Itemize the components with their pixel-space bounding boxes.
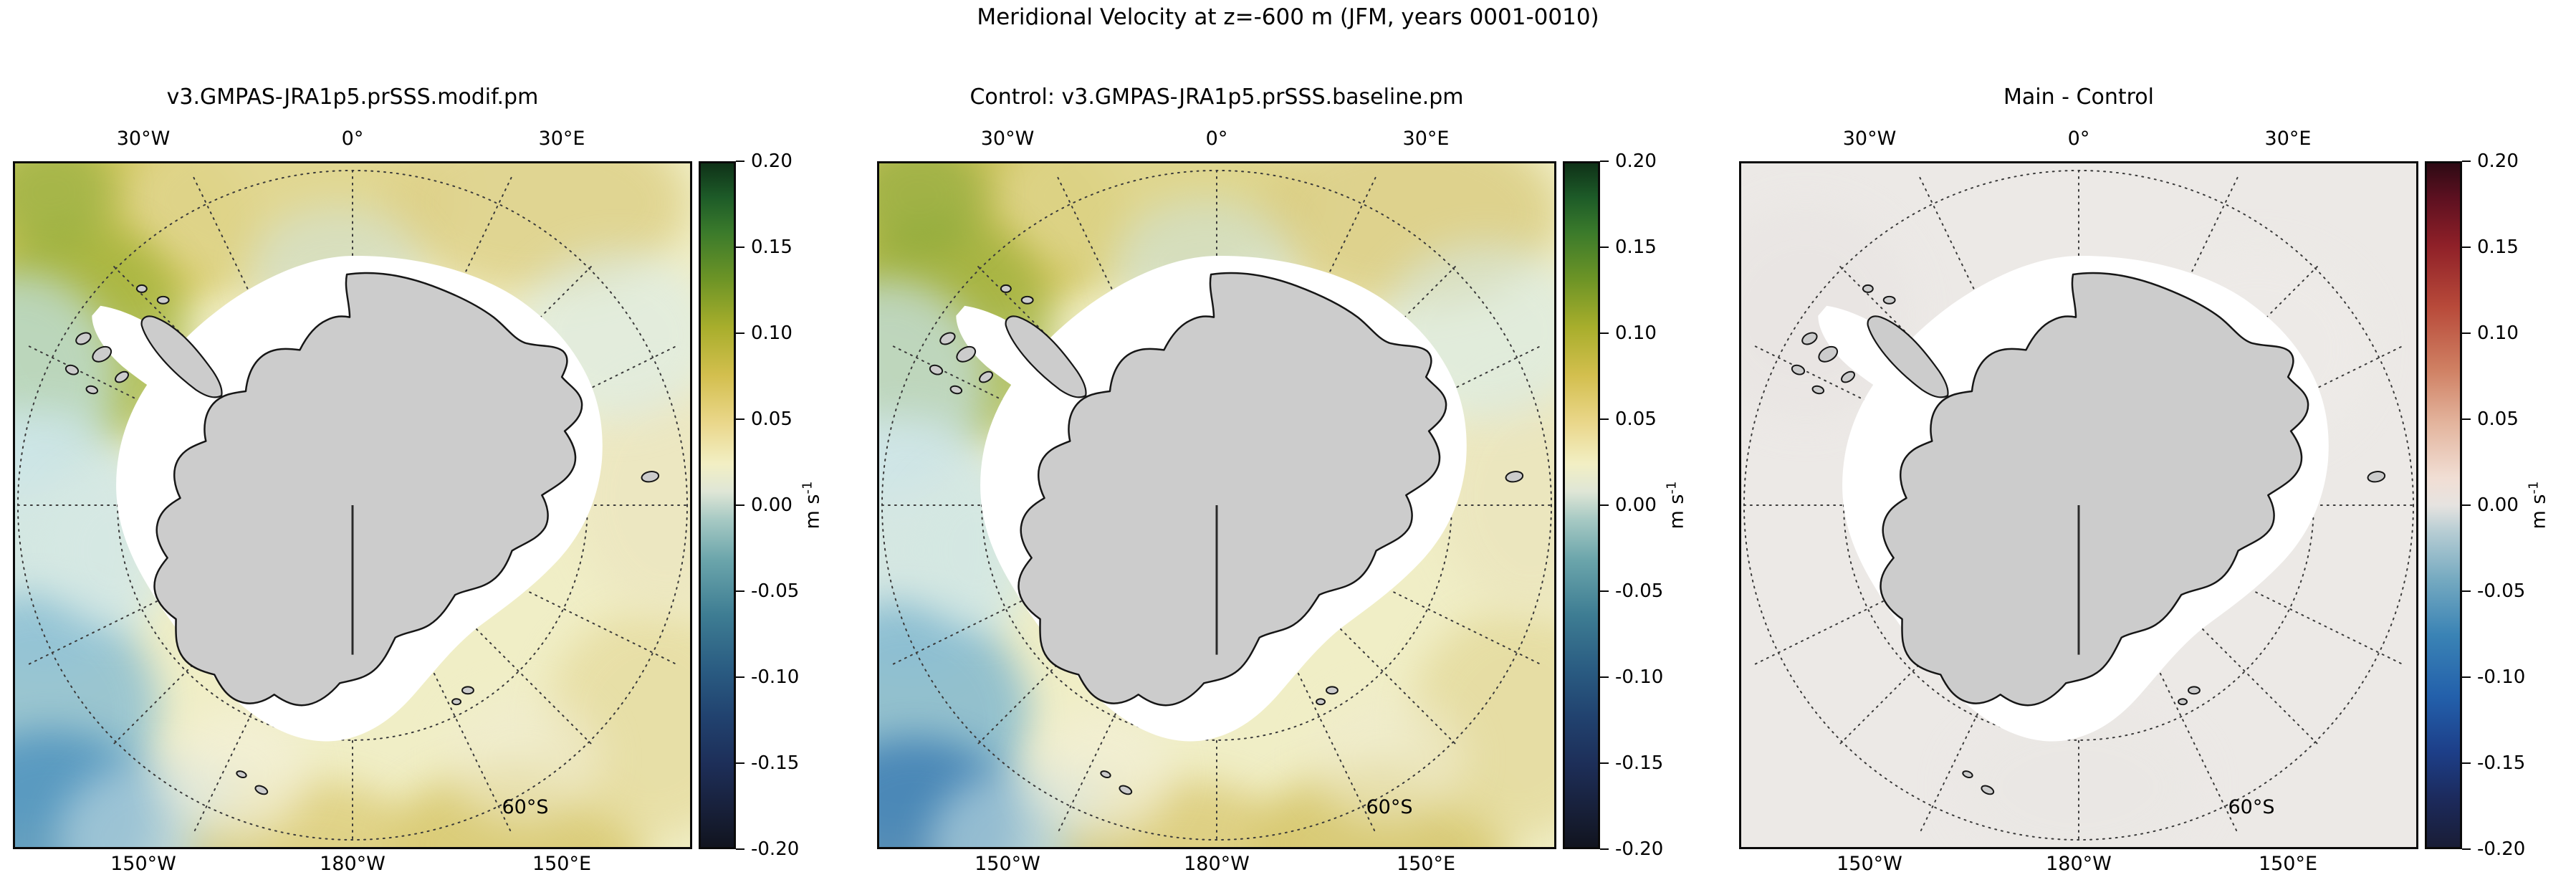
- cbar-tick-dash: [736, 332, 744, 334]
- lon-label-top-2: 30°E: [539, 128, 585, 150]
- cbar-tick-dash: [1600, 676, 1609, 678]
- cbar-tick-dash: [736, 762, 744, 764]
- lon-label-bottom-0: 150°W: [110, 853, 176, 876]
- colorbar-axis-label-difference: m s-1: [2524, 482, 2549, 530]
- cbar-tick-dash: [1600, 247, 1609, 248]
- cbar-tick-dash: [736, 676, 744, 678]
- cbar-tick-dash: [1600, 848, 1609, 850]
- cbar-tick-label: -0.15: [1615, 753, 1663, 773]
- antarctica-landmass-main: [15, 163, 690, 847]
- cbar-tick-label: 0.10: [1615, 323, 1657, 343]
- map-difference[interactable]: 60°S: [1739, 161, 2418, 849]
- panel-title-control: Control: v3.GMPAS-JRA1p5.prSSS.baseline.…: [877, 85, 1556, 110]
- cbar-tick-dash: [2462, 676, 2471, 678]
- panel-difference: Main - Control 30°W 0° 30°E: [1739, 0, 2418, 890]
- cbar-tick-dash: [2462, 332, 2471, 334]
- cbar-tick-label: 0.20: [2477, 151, 2519, 171]
- cbar-tick-dash: [2462, 418, 2471, 420]
- lon-label-top-0: 30°W: [981, 128, 1035, 150]
- cbar-tick-label: 0.15: [1615, 237, 1657, 257]
- cbar-tick-dash: [1600, 418, 1609, 420]
- panel-title-difference: Main - Control: [1739, 85, 2418, 110]
- cbar-tick-dash: [2462, 504, 2471, 506]
- cbar-tick-label: -0.20: [2477, 839, 2525, 859]
- antarctica-landmass-difference: [1741, 163, 2416, 847]
- cbar-unit-text: m s: [1666, 494, 1688, 530]
- cbar-tick-label: 0.20: [1615, 151, 1657, 171]
- lon-label-bottom-2: 150°E: [2259, 853, 2317, 876]
- cbar-tick-label: -0.05: [751, 581, 799, 601]
- panel-control: Control: v3.GMPAS-JRA1p5.prSSS.baseline.…: [877, 0, 1556, 890]
- colorbar-axis-label-main: m s-1: [798, 482, 823, 530]
- lon-label-bottom-0: 150°W: [1837, 853, 1902, 876]
- lon-label-bottom-2: 150°E: [532, 853, 591, 876]
- cbar-tick-label: -0.15: [2477, 753, 2525, 773]
- cbar-tick-dash: [2462, 848, 2471, 850]
- cbar-tick-label: 0.05: [751, 409, 793, 429]
- cbar-tick-dash: [2462, 161, 2471, 162]
- antarctica-landmass-control: [879, 163, 1554, 847]
- cbar-unit-text: m s: [802, 494, 824, 530]
- cbar-tick-dash: [2462, 590, 2471, 592]
- cbar-tick-dash: [736, 590, 744, 592]
- cbar-tick-label: -0.20: [751, 839, 799, 859]
- cbar-tick-dash: [736, 504, 744, 506]
- cbar-tick-dash: [736, 161, 744, 162]
- lon-label-top-1: 0°: [2068, 128, 2090, 150]
- lat-label-60s-main: 60°S: [502, 797, 549, 818]
- cbar-tick-label: 0.20: [751, 151, 793, 171]
- cbar-tick-label: 0.10: [2477, 323, 2519, 343]
- cbar-tick-label: 0.15: [751, 237, 793, 257]
- cbar-tick-label: 0.00: [1615, 495, 1657, 515]
- cbar-tick-dash: [736, 418, 744, 420]
- cbar-tick-label: 0.00: [2477, 495, 2519, 515]
- cbar-tick-label: -0.10: [751, 667, 799, 687]
- map-main[interactable]: 60°S: [13, 161, 692, 849]
- panel-main: v3.GMPAS-JRA1p5.prSSS.modif.pm 30°W 0° 3…: [13, 0, 692, 890]
- cbar-tick-dash: [1600, 504, 1609, 506]
- cbar-tick-label: 0.05: [1615, 409, 1657, 429]
- lon-label-top-0: 30°W: [117, 128, 171, 150]
- cbar-tick-label: 0.15: [2477, 237, 2519, 257]
- lon-label-top-1: 0°: [1206, 128, 1228, 150]
- lon-label-top-0: 30°W: [1843, 128, 1897, 150]
- colorbar-gradient-difference: [2425, 161, 2462, 849]
- cbar-tick-dash: [1600, 332, 1609, 334]
- cbar-tick-dash: [736, 848, 744, 850]
- cbar-unit-text: m s: [2528, 494, 2550, 530]
- cbar-tick-dash: [1600, 762, 1609, 764]
- colorbar-axis-label-control: m s-1: [1662, 482, 1687, 530]
- cbar-unit-exponent: -1: [2527, 482, 2542, 494]
- cbar-tick-dash: [1600, 161, 1609, 162]
- lon-label-top-2: 30°E: [1403, 128, 1450, 150]
- cbar-tick-label: -0.15: [751, 753, 799, 773]
- lon-label-top-2: 30°E: [2265, 128, 2312, 150]
- colorbar-gradient-control: [1563, 161, 1600, 849]
- lon-label-bottom-0: 150°W: [975, 853, 1040, 876]
- cbar-tick-dash: [736, 247, 744, 248]
- cbar-tick-dash: [1600, 590, 1609, 592]
- cbar-tick-label: -0.05: [2477, 581, 2525, 601]
- cbar-tick-dash: [2462, 762, 2471, 764]
- cbar-tick-label: 0.10: [751, 323, 793, 343]
- cbar-tick-label: -0.10: [2477, 667, 2525, 687]
- lon-label-top-1: 0°: [342, 128, 364, 150]
- lat-label-60s-difference: 60°S: [2228, 797, 2275, 818]
- cbar-tick-label: -0.10: [1615, 667, 1663, 687]
- cbar-unit-exponent: -1: [1665, 482, 1680, 494]
- panel-title-main: v3.GMPAS-JRA1p5.prSSS.modif.pm: [13, 85, 692, 110]
- lat-label-60s-control: 60°S: [1366, 797, 1413, 818]
- cbar-tick-label: -0.20: [1615, 839, 1663, 859]
- cbar-tick-dash: [2462, 247, 2471, 248]
- lon-label-bottom-1: 180°W: [2046, 853, 2112, 876]
- cbar-tick-label: 0.05: [2477, 409, 2519, 429]
- cbar-tick-label: -0.05: [1615, 581, 1663, 601]
- cbar-tick-label: 0.00: [751, 495, 793, 515]
- lon-label-bottom-2: 150°E: [1397, 853, 1455, 876]
- lon-label-bottom-1: 180°W: [1184, 853, 1250, 876]
- lon-label-bottom-1: 180°W: [320, 853, 386, 876]
- cbar-unit-exponent: -1: [800, 482, 815, 494]
- map-control[interactable]: 60°S: [877, 161, 1556, 849]
- colorbar-gradient-main: [699, 161, 736, 849]
